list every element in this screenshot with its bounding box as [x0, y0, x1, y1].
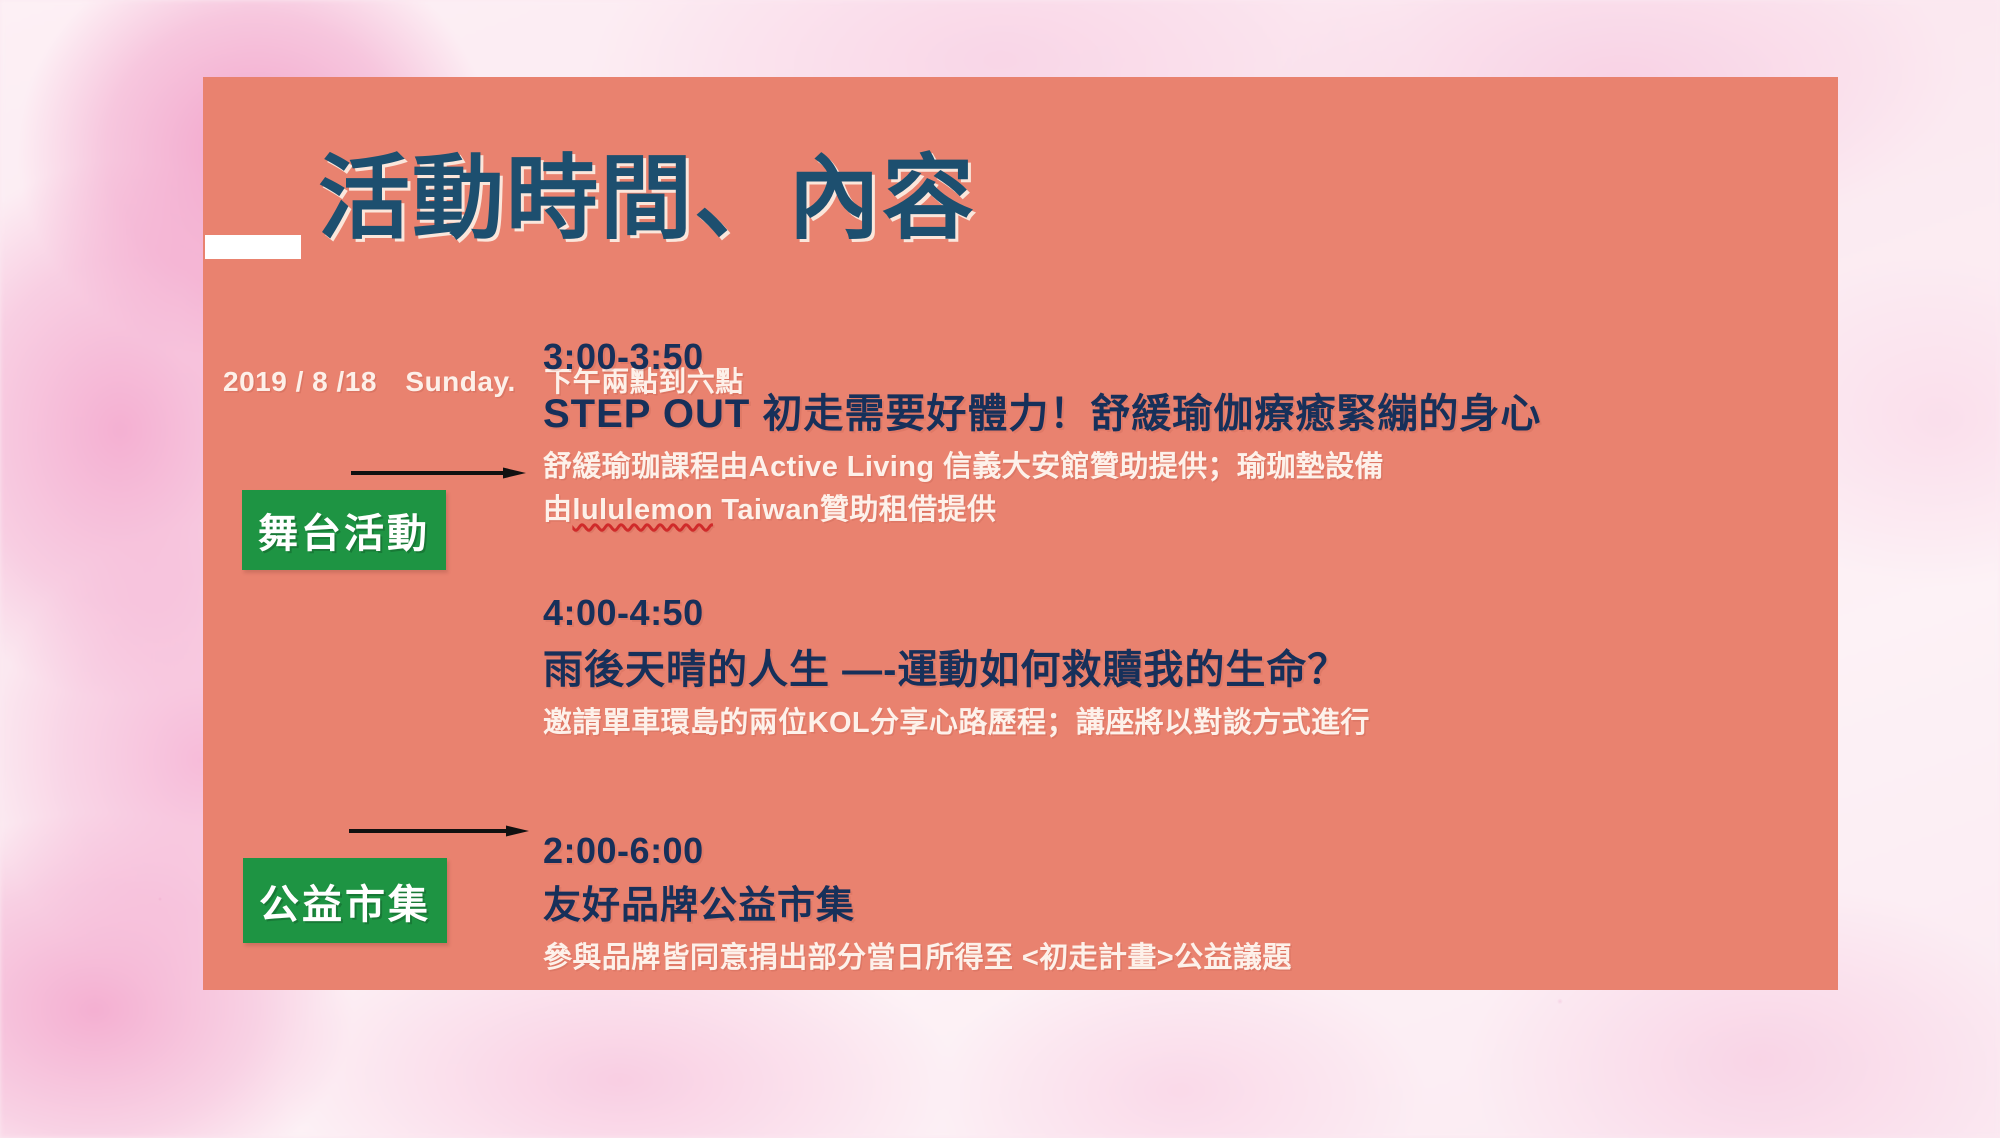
session-title: 雨後天晴的人生 —-運動如何救贖我的生命？ [543, 643, 1370, 697]
session-description: 邀請單車環島的兩位KOL分享心路歷程；講座將以對談方式進行 [543, 703, 1370, 744]
session-title: STEP OUT 初走需要好體力！舒緩瑜伽療癒緊繃的身心 [543, 387, 1541, 441]
badge-charity-market: 公益市集 [243, 858, 447, 943]
arrow-right-icon [349, 824, 529, 838]
slide-canvas: 活動時間、內容 2019 / 8 /18 Sunday. 下午兩點到六點 舞台活… [0, 0, 2000, 1138]
arrow-right-icon [351, 466, 526, 480]
badge-stage-activity: 舞台活動 [242, 490, 446, 570]
session-title: 友好品牌公益市集 [543, 881, 1292, 932]
title-accent-dash [205, 235, 301, 259]
session-item: 2:00-6:00 友好品牌公益市集 參與品牌皆同意捐出部分當日所得至 <初走計… [543, 828, 1292, 979]
badge-charity-market-label: 公益市集 [259, 872, 431, 930]
desc-prefix: 由 [543, 494, 572, 526]
session-time: 4:00-4:50 [543, 590, 1370, 635]
desc-suffix: Taiwan贊助租借提供 [713, 494, 996, 526]
session-time: 2:00-6:00 [543, 828, 1292, 873]
session-description-line-1: 舒緩瑜珈課程由Active Living 信義大安館贊助提供；瑜珈墊設備 [543, 447, 1541, 488]
session-description-line-2: 由lululemon Taiwan贊助租借提供 [543, 490, 1541, 531]
session-time: 3:00-3:50 [543, 334, 1541, 379]
content-panel: 活動時間、內容 2019 / 8 /18 Sunday. 下午兩點到六點 舞台活… [203, 77, 1838, 990]
session-description: 參與品牌皆同意捐出部分當日所得至 <初走計畫>公益議題 [543, 938, 1292, 979]
badge-stage-activity-label: 舞台活動 [258, 501, 430, 559]
session-item: 4:00-4:50 雨後天晴的人生 —-運動如何救贖我的生命？ 邀請單車環島的兩… [543, 590, 1370, 744]
misspelled-word: lululemon [572, 494, 713, 526]
page-title: 活動時間、內容 [318, 145, 976, 254]
session-item: 3:00-3:50 STEP OUT 初走需要好體力！舒緩瑜伽療癒緊繃的身心 舒… [543, 334, 1541, 531]
